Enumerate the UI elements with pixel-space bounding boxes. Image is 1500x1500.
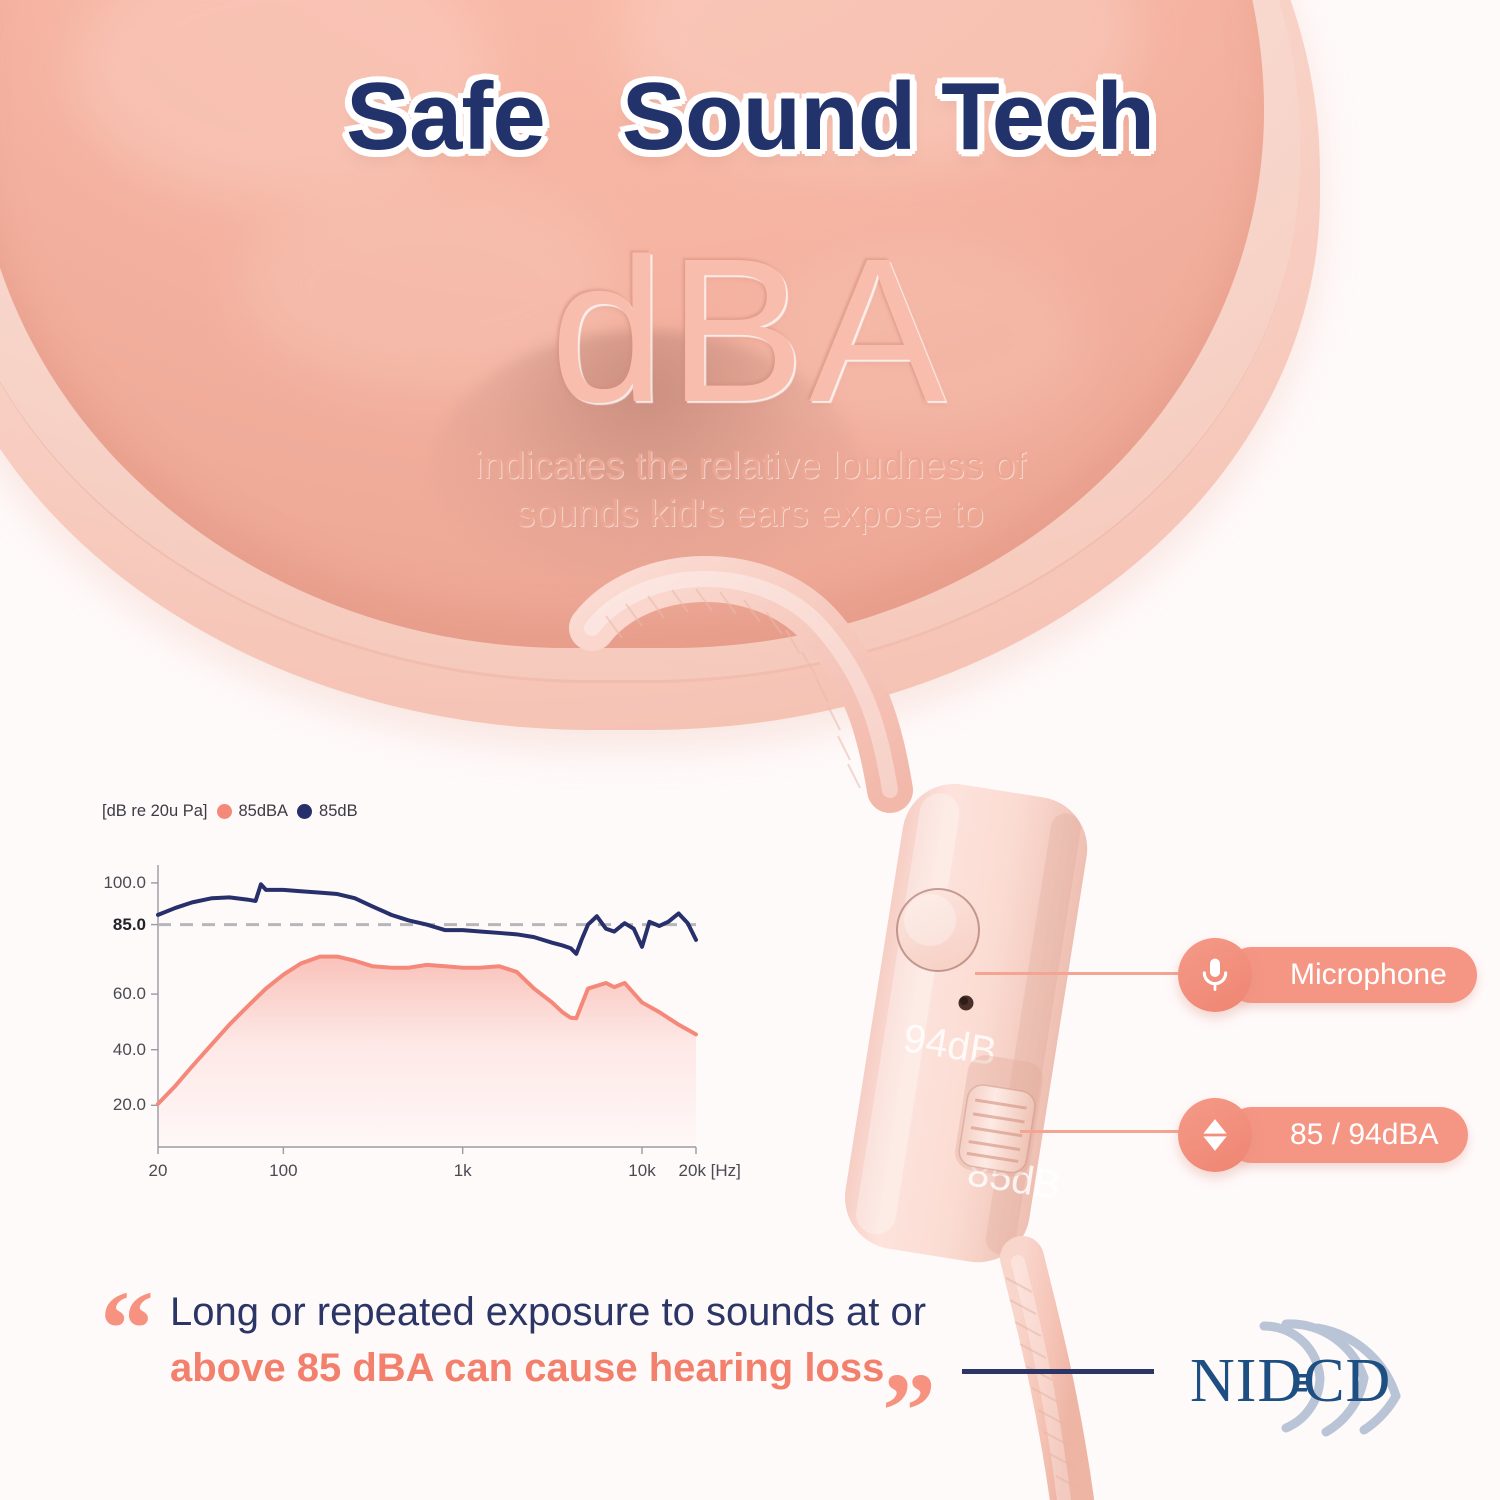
- quote-line-1: Long or repeated exposure to sounds at o…: [170, 1290, 980, 1335]
- x-tick-10k: 10k: [628, 1161, 655, 1181]
- x-tick-100: 100: [269, 1161, 297, 1181]
- x-tick-20kHz: 20k [Hz]: [679, 1161, 741, 1181]
- chart-svg: [100, 855, 710, 1190]
- multifunction-button[interactable]: [897, 889, 979, 971]
- nidcd-logo: NIDCD: [1168, 1318, 1428, 1438]
- switch-thumb[interactable]: [957, 1083, 1037, 1175]
- nidcd-wordmark: NIDCD: [1190, 1346, 1391, 1417]
- chart-legend: [dB re 20u Pa] 85dBA 85dB: [102, 802, 358, 821]
- chart-plot-area: 100.085.060.040.020.0 201001k10k20k [Hz]: [100, 855, 710, 1190]
- quote-open-mark: “: [100, 1292, 154, 1368]
- y-tick-85.0: 85.0: [113, 915, 146, 935]
- infographic-canvas: Safe Sound Tech dBA indicates the relati…: [0, 0, 1500, 1500]
- up-down-arrows-icon-glyph: [1195, 1115, 1235, 1155]
- callout-microphone-label: Microphone: [1290, 958, 1447, 992]
- callout-db-levels-label: 85 / 94dBA: [1290, 1118, 1438, 1152]
- legend-item-85dba: 85dBA: [217, 802, 289, 821]
- chart-series-group: [158, 884, 696, 1147]
- up-down-arrows-icon: [1178, 1098, 1252, 1172]
- legend-item-85db: 85dB: [297, 802, 358, 821]
- chart-line-85dB: [158, 884, 696, 954]
- frequency-response-chart: [dB re 20u Pa] 85dBA 85dB: [100, 800, 710, 1190]
- callout-lead-line-microphone: [975, 972, 1180, 975]
- y-tick-60.0: 60.0: [113, 984, 146, 1004]
- quote-attribution-rule: [962, 1369, 1154, 1374]
- microphone-icon: [1178, 938, 1252, 1012]
- y-tick-100.0: 100.0: [103, 873, 146, 893]
- quote-close-mark: ”: [882, 1374, 936, 1450]
- y-tick-20.0: 20.0: [113, 1095, 146, 1115]
- callout-microphone-pill[interactable]: Microphone: [1224, 947, 1477, 1003]
- callout-lead-line-db-switch: [1020, 1130, 1180, 1133]
- y-tick-40.0: 40.0: [113, 1040, 146, 1060]
- legend-label-85db: 85dB: [319, 802, 358, 821]
- legend-label-85dba: 85dBA: [239, 802, 289, 821]
- quote-line-2: above 85 dBA can cause hearing loss: [170, 1346, 980, 1391]
- chart-unit-label: [dB re 20u Pa]: [102, 802, 208, 821]
- legend-swatch-85dba: [217, 804, 232, 819]
- callout-db-levels-pill[interactable]: 85 / 94dBA: [1224, 1107, 1468, 1163]
- braided-cable-upper: [592, 579, 890, 790]
- cable-and-control-module: 94dB 85dB: [0, 0, 1500, 1500]
- x-tick-20: 20: [149, 1161, 168, 1181]
- x-tick-1k: 1k: [454, 1161, 472, 1181]
- microphone-pinhole: [959, 996, 974, 1011]
- legend-swatch-85db: [297, 804, 312, 819]
- microphone-icon-glyph: [1195, 955, 1235, 995]
